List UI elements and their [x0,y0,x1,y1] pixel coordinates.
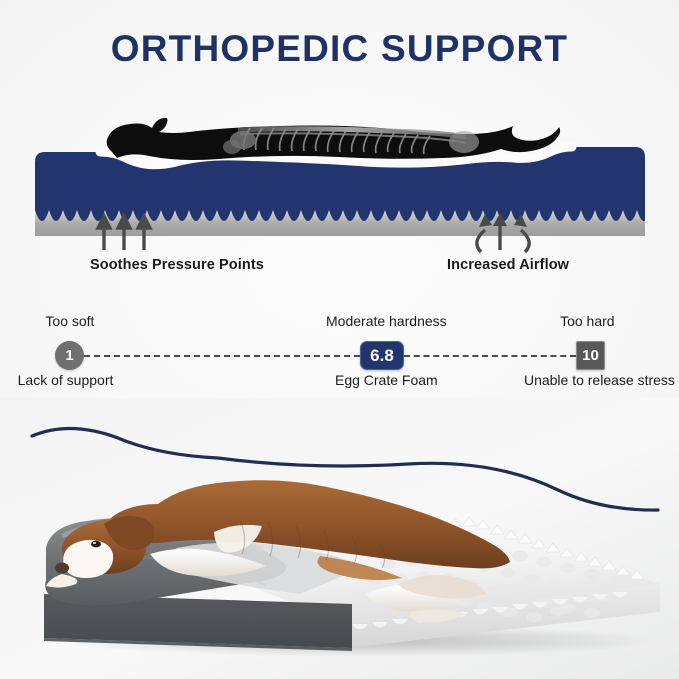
pressure-points-label: Soothes Pressure Points [90,257,264,273]
scale-label-too-soft: Too soft [45,313,94,329]
scale-bottom-labels: Lack of support Egg Crate Foam Unable to… [0,372,679,392]
scale-label-too-hard: Too hard [560,313,614,329]
dog-nose [55,563,69,574]
scale-caption-egg-crate-foam: Egg Crate Foam [335,372,438,388]
scale-top-labels: Too soft Moderate hardness Too hard [0,313,679,333]
scale-marker-selected[interactable]: 6.8 [360,341,404,370]
scale-dash-right [404,355,576,357]
dog-eye [91,541,101,548]
scale-caption-lack-of-support: Lack of support [18,372,114,388]
scale-marker-max[interactable]: 10 [576,341,605,370]
scale-track: 1 6.8 10 [0,341,679,371]
firmness-scale: Too soft Moderate hardness Too hard 1 6.… [0,305,679,395]
product-photo [0,398,679,679]
scale-label-moderate: Moderate hardness [326,313,447,329]
scale-marker-min[interactable]: 1 [55,341,84,370]
airflow-label: Increased Airflow [447,257,569,273]
scale-caption-unable-to-release-stress: Unable to release stress [524,372,675,388]
scale-dash-left [84,355,360,357]
page-title: ORTHOPEDIC SUPPORT [0,28,679,70]
orthopedic-support-infographic: ORTHOPEDIC SUPPORT [0,0,679,679]
